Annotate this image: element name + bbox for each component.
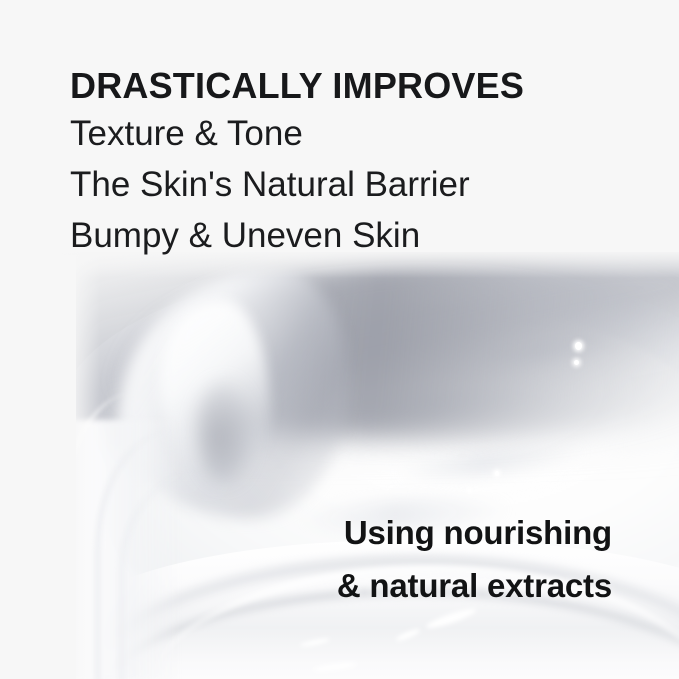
specular-dot: [468, 489, 471, 492]
claim-item: The Skin's Natural Barrier: [70, 159, 524, 210]
claims-text-block: DRASTICALLY IMPROVES Texture & Tone The …: [70, 64, 524, 261]
claim-item: Texture & Tone: [70, 108, 524, 159]
background-left-fade: [60, 255, 100, 679]
ingredient-caption-block: Using nourishing & natural extracts: [337, 506, 612, 612]
caption-line: Using nourishing: [337, 506, 612, 559]
headline: DRASTICALLY IMPROVES: [70, 64, 524, 108]
claims-list: Texture & Tone The Skin's Natural Barrie…: [70, 108, 524, 261]
specular-dot: [574, 360, 579, 365]
product-claim-image: DRASTICALLY IMPROVES Texture & Tone The …: [0, 0, 679, 679]
claim-item: Bumpy & Uneven Skin: [70, 210, 524, 261]
jar-left-groove: [120, 470, 293, 679]
specular-dot: [495, 471, 499, 476]
specular-dot: [575, 342, 582, 350]
caption-line: & natural extracts: [337, 559, 612, 612]
